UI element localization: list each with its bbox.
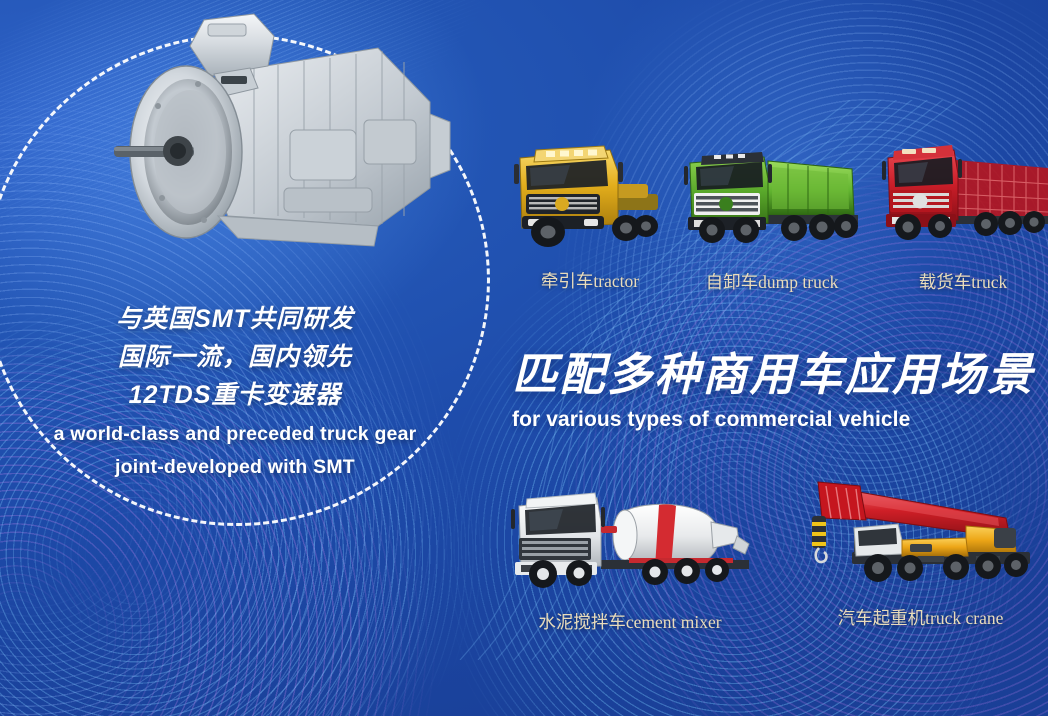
left-headline-cn-line2: 国际一流，国内领先 [0,338,470,376]
left-headline-cn-line3: 12TDS重卡变速器 [0,376,470,414]
left-headline-cn-line1: 与英国SMT共同研发 [0,300,470,338]
marketing-slide: 与英国SMT共同研发 国际一流，国内领先 12TDS重卡变速器 a world-… [0,0,1048,716]
dump-truck-image [676,133,868,263]
truck-crane-image [798,470,1043,597]
tractor-caption: 牵引车tractor [500,268,680,293]
left-copy-block: 与英国SMT共同研发 国际一流，国内领先 12TDS重卡变速器 a world-… [0,300,470,481]
vehicle-card-truck-crane: 汽车起重机truck crane [798,470,1043,630]
cargo-truck-caption: 载货车truck [878,269,1048,294]
left-headline-en-line1: a world-class and preceded truck gear [0,421,470,447]
left-headline-en-line2: joint-developed with SMT [0,454,470,480]
right-headline-en: for various types of commercial vehicle [512,408,1032,432]
cement-mixer-caption: 水泥搅拌车cement mixer [505,609,755,634]
gearbox-product-image [78,10,468,300]
cement-mixer-image [505,478,755,601]
tractor-image [500,132,680,262]
vehicle-card-cement-mixer: 水泥搅拌车cement mixer [505,478,755,634]
vehicle-card-dump-truck: 自卸车dump truck [676,133,868,294]
dump-truck-caption: 自卸车dump truck [676,269,868,294]
right-headline-cn: 匹配多种商用车应用场景 [512,352,1032,397]
cargo-truck-image [878,128,1048,263]
vehicle-card-cargo-truck: 载货车truck [878,128,1048,294]
right-headline-block: 匹配多种商用车应用场景 for various types of commerc… [512,352,1032,432]
vehicle-card-tractor: 牵引车tractor [500,132,680,293]
truck-crane-caption: 汽车起重机truck crane [798,605,1043,630]
